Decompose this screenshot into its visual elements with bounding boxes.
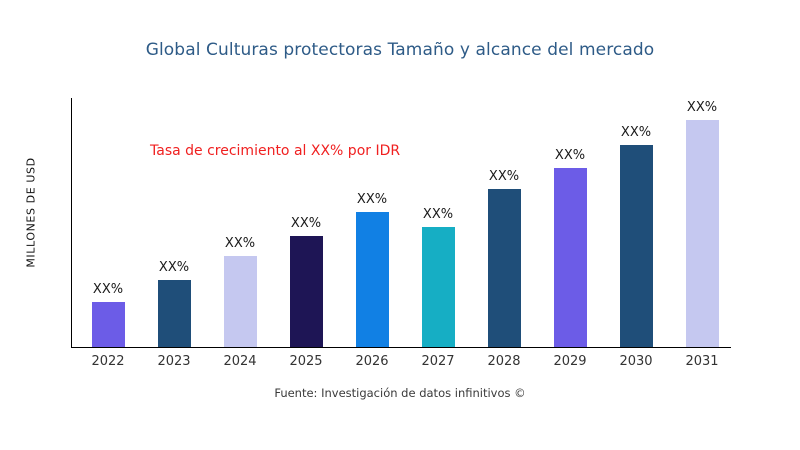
bar-2029: XX% bbox=[554, 168, 587, 347]
x-tick-label-2022: 2022 bbox=[91, 354, 124, 369]
x-tick-label-2025: 2025 bbox=[289, 354, 322, 369]
bar-value-label-2031: XX% bbox=[687, 100, 717, 115]
x-tick-label-2031: 2031 bbox=[685, 354, 718, 369]
bar-2026: XX% bbox=[356, 212, 389, 347]
chart-title: Global Culturas protectoras Tamaño y alc… bbox=[0, 40, 800, 60]
x-axis-line bbox=[71, 347, 731, 348]
bar-value-label-2022: XX% bbox=[93, 282, 123, 297]
bar-value-label-2028: XX% bbox=[489, 169, 519, 184]
x-tick-label-2026: 2026 bbox=[355, 354, 388, 369]
bar-value-label-2030: XX% bbox=[621, 125, 651, 140]
bar-2028: XX% bbox=[488, 189, 521, 347]
x-tick-label-2023: 2023 bbox=[157, 354, 190, 369]
y-axis-line bbox=[71, 98, 72, 348]
bar-2025: XX% bbox=[290, 236, 323, 347]
source-note: Fuente: Investigación de datos infinitiv… bbox=[0, 386, 800, 400]
x-tick-label-2028: 2028 bbox=[487, 354, 520, 369]
bar-2023: XX% bbox=[158, 280, 191, 347]
bar-2031: XX% bbox=[686, 120, 719, 347]
bar-chart-figure: Global Culturas protectoras Tamaño y alc… bbox=[0, 0, 800, 450]
bar-value-label-2024: XX% bbox=[225, 236, 255, 251]
bar-2024: XX% bbox=[224, 256, 257, 347]
x-tick-label-2029: 2029 bbox=[553, 354, 586, 369]
bar-2027: XX% bbox=[422, 227, 455, 347]
bar-value-label-2026: XX% bbox=[357, 192, 387, 207]
growth-rate-annotation: Tasa de crecimiento al XX% por IDR bbox=[150, 143, 400, 159]
x-tick-label-2027: 2027 bbox=[421, 354, 454, 369]
bar-2030: XX% bbox=[620, 145, 653, 347]
bar-value-label-2023: XX% bbox=[159, 260, 189, 275]
bar-value-label-2027: XX% bbox=[423, 207, 453, 222]
x-tick-label-2024: 2024 bbox=[223, 354, 256, 369]
y-axis-title: MILLONES DE USD bbox=[25, 98, 38, 328]
bar-2022: XX% bbox=[92, 302, 125, 347]
bar-value-label-2029: XX% bbox=[555, 148, 585, 163]
x-tick-label-2030: 2030 bbox=[619, 354, 652, 369]
plot-area: XX%XX%XX%XX%XX%XX%XX%XX%XX%XX% 202220232… bbox=[71, 98, 731, 348]
bar-value-label-2025: XX% bbox=[291, 216, 321, 231]
